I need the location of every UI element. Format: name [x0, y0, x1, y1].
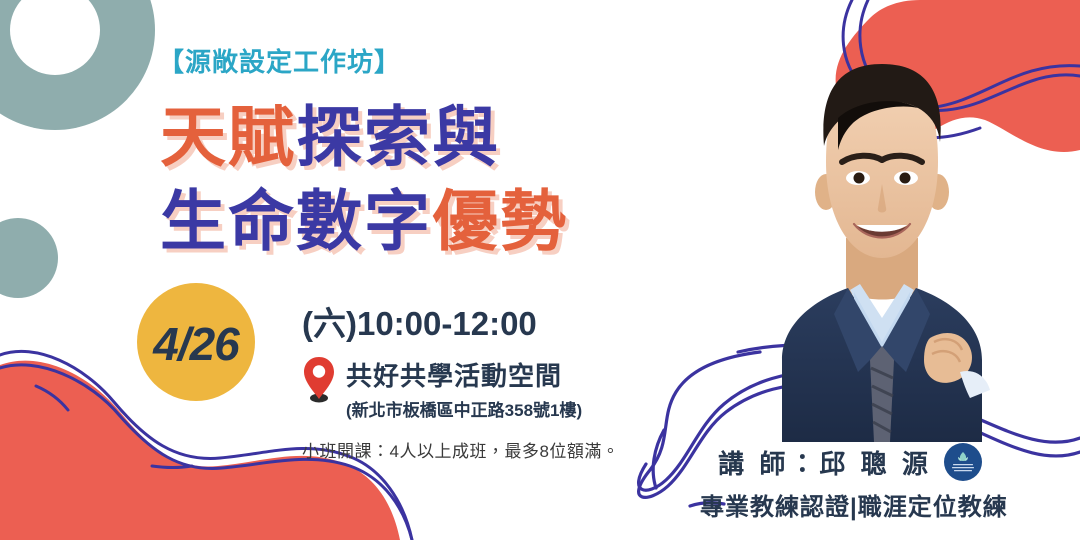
circle-left-shape — [0, 218, 58, 298]
venue-name: 共好共學活動空間 — [346, 356, 582, 393]
certification-logo-icon — [944, 443, 982, 481]
ring-top-left-shape — [0, 0, 155, 130]
instructor-name: 講 師：邱 聰 源 — [718, 444, 932, 481]
venue-info: 共好共學活動空間 (新北市板橋區中正路358號1樓) — [302, 355, 582, 421]
instructor-info: 講 師：邱 聰 源 專業教練認證|職涯定位教練 — [700, 443, 1000, 522]
title-line-2: 生命數字優勢 — [160, 179, 680, 263]
title-line-1-orange: 天賦 — [160, 100, 296, 174]
date-badge: 4/26 — [137, 283, 255, 401]
instructor-name-row: 講 師：邱 聰 源 — [700, 443, 1000, 481]
class-note: 小班開課：4人以上成班，最多8位額滿。 — [302, 437, 619, 462]
venue-texts: 共好共學活動空間 (新北市板橋區中正路358號1樓) — [346, 355, 582, 421]
page-title: 天賦探索與 生命數字優勢 — [160, 95, 680, 263]
title-line-1: 天賦探索與 — [160, 95, 680, 179]
instructor-photo — [742, 42, 1022, 442]
schedule-time: (六)10:00-12:00 — [302, 297, 537, 345]
location-pin-icon — [302, 355, 336, 403]
workshop-kicker: 【源敞設定工作坊】 — [158, 42, 401, 79]
title-line-1-blue: 探索與 — [296, 100, 500, 174]
instructor-role: 專業教練認證|職涯定位教練 — [700, 487, 1000, 522]
workshop-banner: 【源敞設定工作坊】 天賦探索與 生命數字優勢 4/26 (六)10:00-12:… — [0, 0, 1080, 540]
date-badge-text: 4/26 — [153, 317, 239, 371]
title-line-2-blue: 生命數字 — [160, 184, 432, 258]
venue-address: (新北市板橋區中正路358號1樓) — [346, 396, 582, 421]
title-line-2-orange: 優勢 — [432, 184, 568, 258]
